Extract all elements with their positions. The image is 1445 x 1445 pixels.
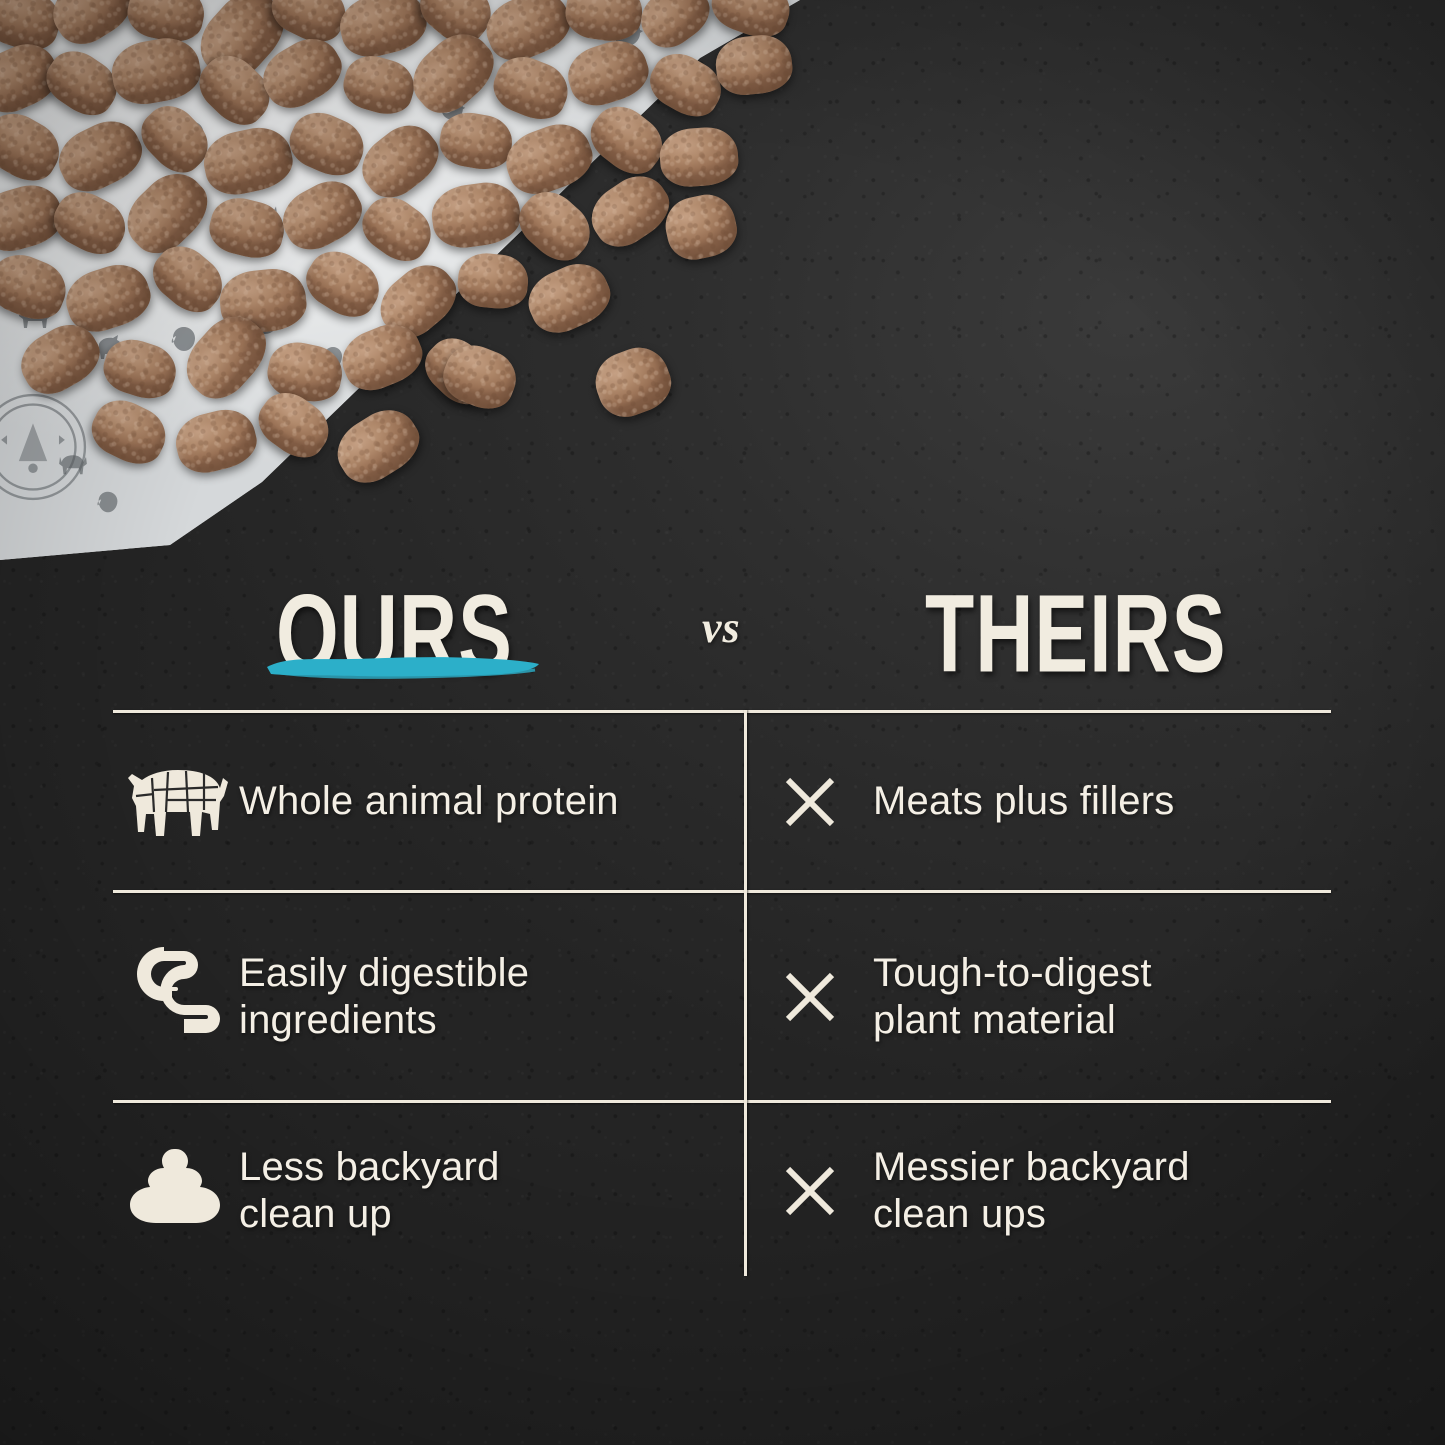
table-row: Less backyard clean up [113,1103,741,1278]
x-mark-icon [747,1163,873,1219]
x-mark-icon [747,969,873,1025]
intestine-icon [113,941,239,1053]
row-text-theirs: Tough-to-digest plant material [873,950,1152,1044]
table-row: Tough-to-digest plant material [747,893,1331,1100]
row-text-ours: Less backyard clean up [239,1144,500,1238]
poop-icon [113,1145,239,1237]
headline-theirs: THEIRS [925,578,1226,689]
table-row: Whole animal protein [113,713,741,890]
row-text-theirs: Messier backyard clean ups [873,1144,1190,1238]
x-mark-icon [747,774,873,830]
table-row: Meats plus fillers [747,713,1331,890]
comparison-table: Whole animal protein Meats plus fillers [113,710,1331,1280]
headline-vs-separator: vs [702,602,741,653]
table-row: Easily digestible ingredients [113,893,741,1100]
row-text-theirs: Meats plus fillers [873,778,1174,825]
blue-brush-stroke-icon [265,652,541,679]
row-text-ours: Whole animal protein [239,778,619,825]
headline-row: OURS vs THEIRS [113,566,1331,686]
comparison-infographic: OURS vs THEIRS [0,0,1445,1445]
table-row: Messier backyard clean ups [747,1103,1331,1278]
row-text-ours: Easily digestible ingredients [239,950,529,1044]
cow-butcher-cuts-icon [113,756,239,848]
